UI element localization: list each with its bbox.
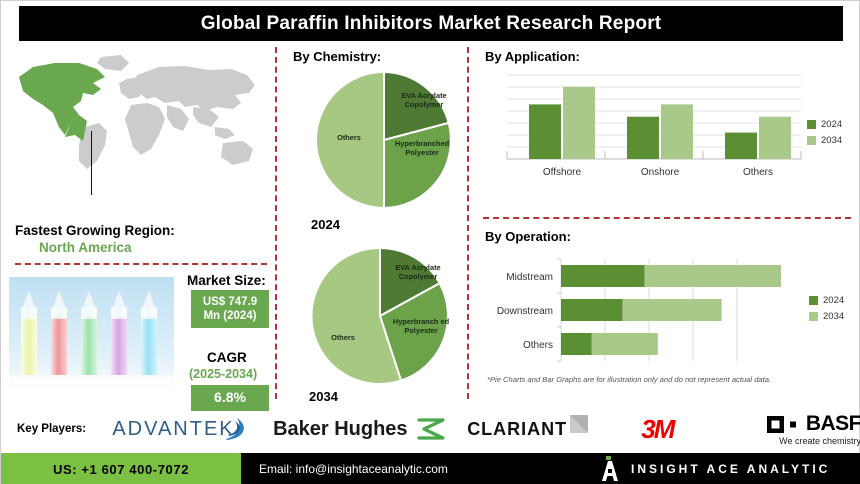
legend-swatch-op-2034: [809, 312, 818, 321]
footer-phone[interactable]: US: +1 607 400-7072: [1, 453, 241, 484]
divider-left-middle: [275, 47, 277, 399]
right-column: By Application:: [473, 45, 860, 401]
divider-right-horizontal: [483, 217, 851, 219]
map-pointer-line: [91, 131, 92, 195]
clariant-mark-icon: [569, 414, 589, 434]
pie-chart-2034: EVA Acrylate Copolymer Hyperbranch ed Po…: [305, 241, 455, 391]
legend-label-2024: 2024: [821, 119, 842, 130]
divider-left-horizontal: [15, 263, 267, 265]
svg-text:Others: Others: [523, 340, 553, 351]
left-column: Fastest Growing Region: North America: [1, 45, 273, 401]
operation-legend: 2024 2034: [809, 295, 844, 322]
legend-item-op-2034: 2034: [809, 311, 844, 322]
logo-basf-text: BASF: [806, 412, 860, 436]
legend-swatch-op-2024: [809, 296, 818, 305]
insight-ace-logo-icon: [599, 456, 621, 482]
fastest-region-value: North America: [39, 240, 132, 255]
legend-item-2024: 2024: [807, 119, 842, 130]
market-size-label: Market Size:: [187, 273, 266, 288]
basf-squares-icon: [767, 416, 801, 433]
legend-label-2034: 2034: [821, 135, 842, 146]
svg-text:Midstream: Midstream: [506, 272, 553, 283]
legend-item-op-2024: 2024: [809, 295, 844, 306]
header-bar: Global Paraffin Inhibitors Market Resear…: [19, 6, 843, 41]
footer-email[interactable]: Email: info@insightaceanalytic.com: [241, 453, 593, 484]
key-players-row: Key Players: ADVANTEK Baker Hughes CLARI…: [1, 405, 860, 453]
operation-title: By Operation:: [485, 229, 571, 244]
world-map-icon: [9, 49, 267, 177]
logo-advantek-text: ADVANTEK: [112, 418, 234, 441]
pie-2024-year: 2024: [311, 217, 340, 232]
infographic-root: Global Paraffin Inhibitors Market Resear…: [0, 0, 860, 484]
logo-advantek: ADVANTEK: [96, 414, 265, 444]
chemical-vials-icon: [9, 277, 174, 399]
divider-middle-right: [467, 47, 469, 399]
legend-swatch-2024: [807, 120, 816, 129]
svg-text:Onshore: Onshore: [641, 167, 680, 178]
footer-bar: US: +1 607 400-7072 Email: info@insighta…: [1, 453, 860, 484]
svg-text:Downstream: Downstream: [497, 306, 553, 317]
market-size-value-box: US$ 747.9 Mn (2024): [191, 290, 269, 328]
cagr-label: CAGR: [207, 350, 247, 365]
chemistry-title: By Chemistry:: [293, 49, 381, 64]
market-size-value-line1: US$ 747.9: [203, 295, 257, 309]
logo-baker-hughes-text: Baker Hughes: [273, 418, 408, 441]
logo-3m: 3M: [603, 414, 712, 445]
logo-clariant: CLARIANT: [454, 414, 603, 444]
cagr-years: (2025-2034): [189, 367, 257, 381]
chart-footnote: *Pie Charts and Bar Graphs are for illus…: [487, 375, 771, 384]
legend-item-2034: 2034: [807, 135, 842, 146]
logo-clariant-text: CLARIANT: [467, 419, 567, 440]
logo-basf-top: BASF: [767, 412, 860, 436]
legend-label-op-2034: 2034: [823, 311, 844, 322]
application-legend: 2024 2034: [807, 119, 842, 146]
svg-text:Others: Others: [743, 167, 773, 178]
fastest-region-label: Fastest Growing Region:: [15, 223, 175, 238]
logo-basf-tagline: We create chemistry: [779, 436, 860, 446]
key-players-label: Key Players:: [17, 423, 86, 435]
operation-bar-chart: Midstream Downstream Others: [483, 257, 803, 375]
pie-chart-2024: EVA Acrylate Copolymer Hyperbranched Pol…: [309, 65, 459, 215]
footer-brand: INSIGHT ACE ANALYTIC: [593, 453, 860, 484]
legend-swatch-2034: [807, 136, 816, 145]
svg-text:Offshore: Offshore: [543, 167, 582, 178]
pie-2034-year: 2034: [309, 389, 338, 404]
application-title: By Application:: [485, 49, 580, 64]
logo-basf: BASF We create chemistry: [712, 412, 860, 446]
logo-baker-hughes: Baker Hughes: [265, 416, 454, 442]
legend-label-op-2024: 2024: [823, 295, 844, 306]
market-size-value-line2: Mn (2024): [203, 309, 256, 323]
page-title: Global Paraffin Inhibitors Market Resear…: [201, 13, 662, 35]
baker-hughes-mark-icon: [416, 416, 446, 442]
application-bar-chart: Offshore Onshore Others: [501, 67, 813, 187]
footer-brand-text: INSIGHT ACE ANALYTIC: [631, 462, 830, 476]
logo-3m-text: 3M: [641, 414, 673, 445]
chemistry-column: By Chemistry: EVA Acrylate Copolymer Hyp…: [281, 45, 467, 401]
